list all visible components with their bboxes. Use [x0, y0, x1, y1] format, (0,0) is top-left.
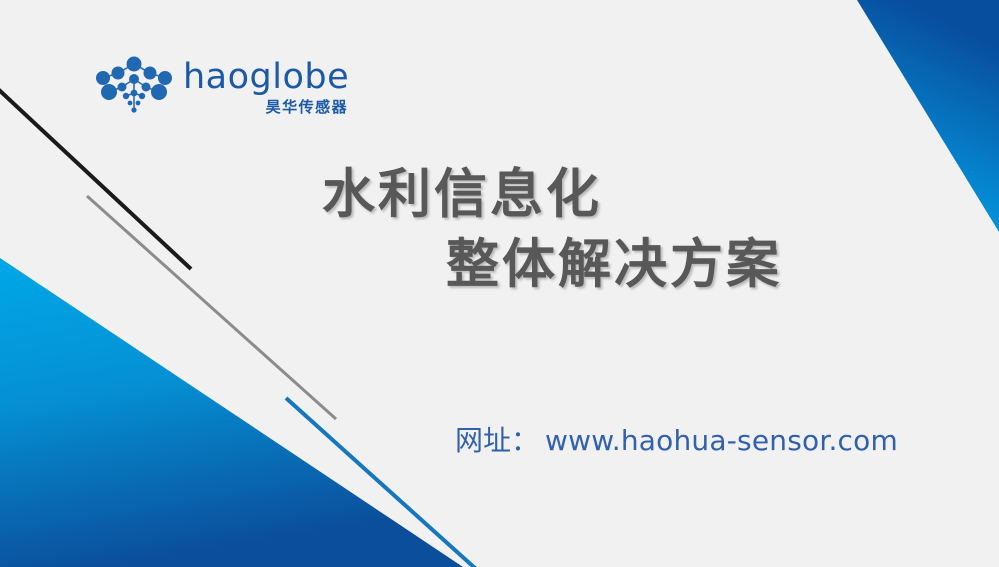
molecule-cluster-icon [95, 56, 173, 116]
website-label: 网址： [455, 419, 539, 459]
logo-text-block: haoglobe 昊华传感器 [183, 58, 349, 115]
page-title-line-2: 整体解决方案 [322, 230, 882, 300]
logo-wordmark: haoglobe [183, 60, 349, 95]
company-logo: haoglobe 昊华传感器 [95, 56, 349, 116]
black-diagonal-line [0, 89, 191, 269]
website-line: 网址： www.haohua-sensor.com [455, 419, 898, 459]
left-blue-triangle [0, 258, 463, 567]
page-title-line-1: 水利信息化 [322, 160, 882, 230]
title-slide: haoglobe 昊华传感器 水利信息化 整体解决方案 网址： www.haoh… [0, 0, 999, 567]
page-title: 水利信息化 整体解决方案 [322, 160, 882, 300]
logo-subtitle: 昊华传感器 [266, 100, 349, 115]
website-url[interactable]: www.haohua-sensor.com [545, 424, 898, 457]
